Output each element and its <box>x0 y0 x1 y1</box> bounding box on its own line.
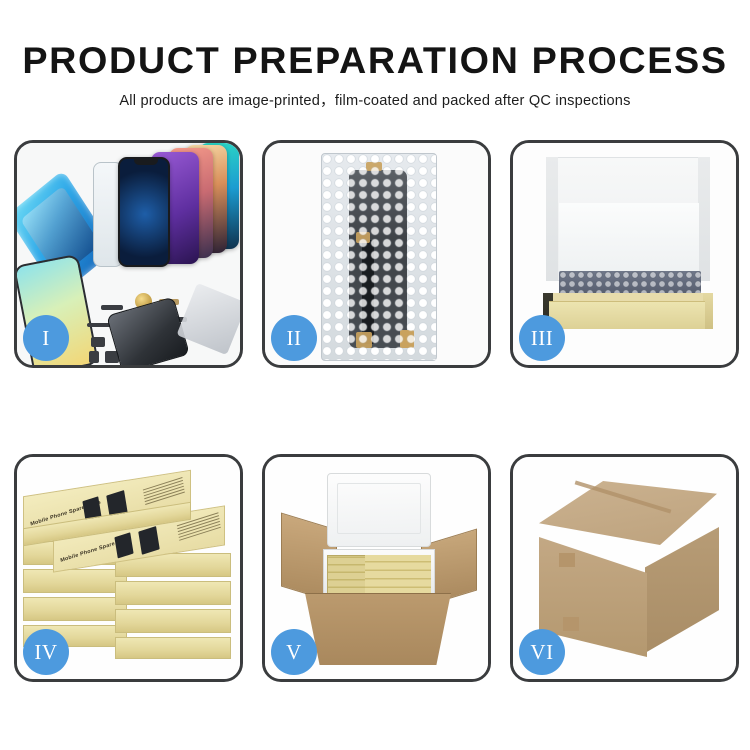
box-spec-lines-top <box>143 477 185 507</box>
stack-box-right-4 <box>115 609 231 633</box>
step-card-1[interactable]: I <box>14 140 243 368</box>
step-card-6[interactable]: VI <box>510 454 739 682</box>
carton-top-face <box>539 481 717 545</box>
stack-box-right-5 <box>115 637 231 659</box>
part-icon-1 <box>91 337 105 347</box>
step-badge-1: I <box>23 315 69 361</box>
phone-icon-1 <box>118 157 170 267</box>
tape-icon-3 <box>356 332 372 348</box>
stack-box-left-3 <box>23 569 127 593</box>
kraft-boxes-inside-right <box>365 555 431 595</box>
wrapped-part <box>349 170 407 348</box>
carton-tape-lower <box>563 617 579 631</box>
product-preparation-page: PRODUCT PREPARATION PROCESS All products… <box>0 0 750 750</box>
part-icon-2 <box>89 351 99 363</box>
box-window-front-2 <box>138 526 160 555</box>
stack-box-left-4 <box>23 597 127 621</box>
flex-cable-icon-2 <box>101 305 123 310</box>
carton-body <box>305 593 451 665</box>
box-lid-side-right <box>698 157 710 281</box>
bubble-wrap-bag <box>321 153 437 361</box>
page-header: PRODUCT PREPARATION PROCESS All products… <box>0 0 750 110</box>
step-badge-2: II <box>271 315 317 361</box>
styrofoam-lid <box>327 473 431 547</box>
carton-right-face <box>645 527 719 653</box>
wrapped-flex-cable <box>362 240 374 344</box>
tape-icon-2 <box>356 232 370 243</box>
page-subtitle: All products are image-printed，film-coat… <box>0 89 750 110</box>
step-badge-5: V <box>271 629 317 675</box>
page-title: PRODUCT PREPARATION PROCESS <box>0 42 750 80</box>
box-front-panel <box>549 301 705 329</box>
step-card-2[interactable]: II <box>262 140 491 368</box>
step-card-5[interactable]: V <box>262 454 491 682</box>
box-window-front-1 <box>114 532 133 558</box>
step-badge-6: VI <box>519 629 565 675</box>
stack-box-right-3 <box>115 581 231 605</box>
box-lid-side-left <box>546 157 558 281</box>
step-card-4[interactable]: Mobile Phone Spare Parts Mobile Phone Sp… <box>14 454 243 682</box>
carton-tape-upper <box>559 553 575 567</box>
step-badge-4: IV <box>23 629 69 675</box>
foam-sheet <box>559 203 699 275</box>
step-card-3[interactable]: III <box>510 140 739 368</box>
step-badge-3: III <box>519 315 565 361</box>
process-steps-grid: I II <box>14 140 738 682</box>
tape-icon-1 <box>366 162 382 171</box>
tape-icon-4 <box>400 330 414 348</box>
